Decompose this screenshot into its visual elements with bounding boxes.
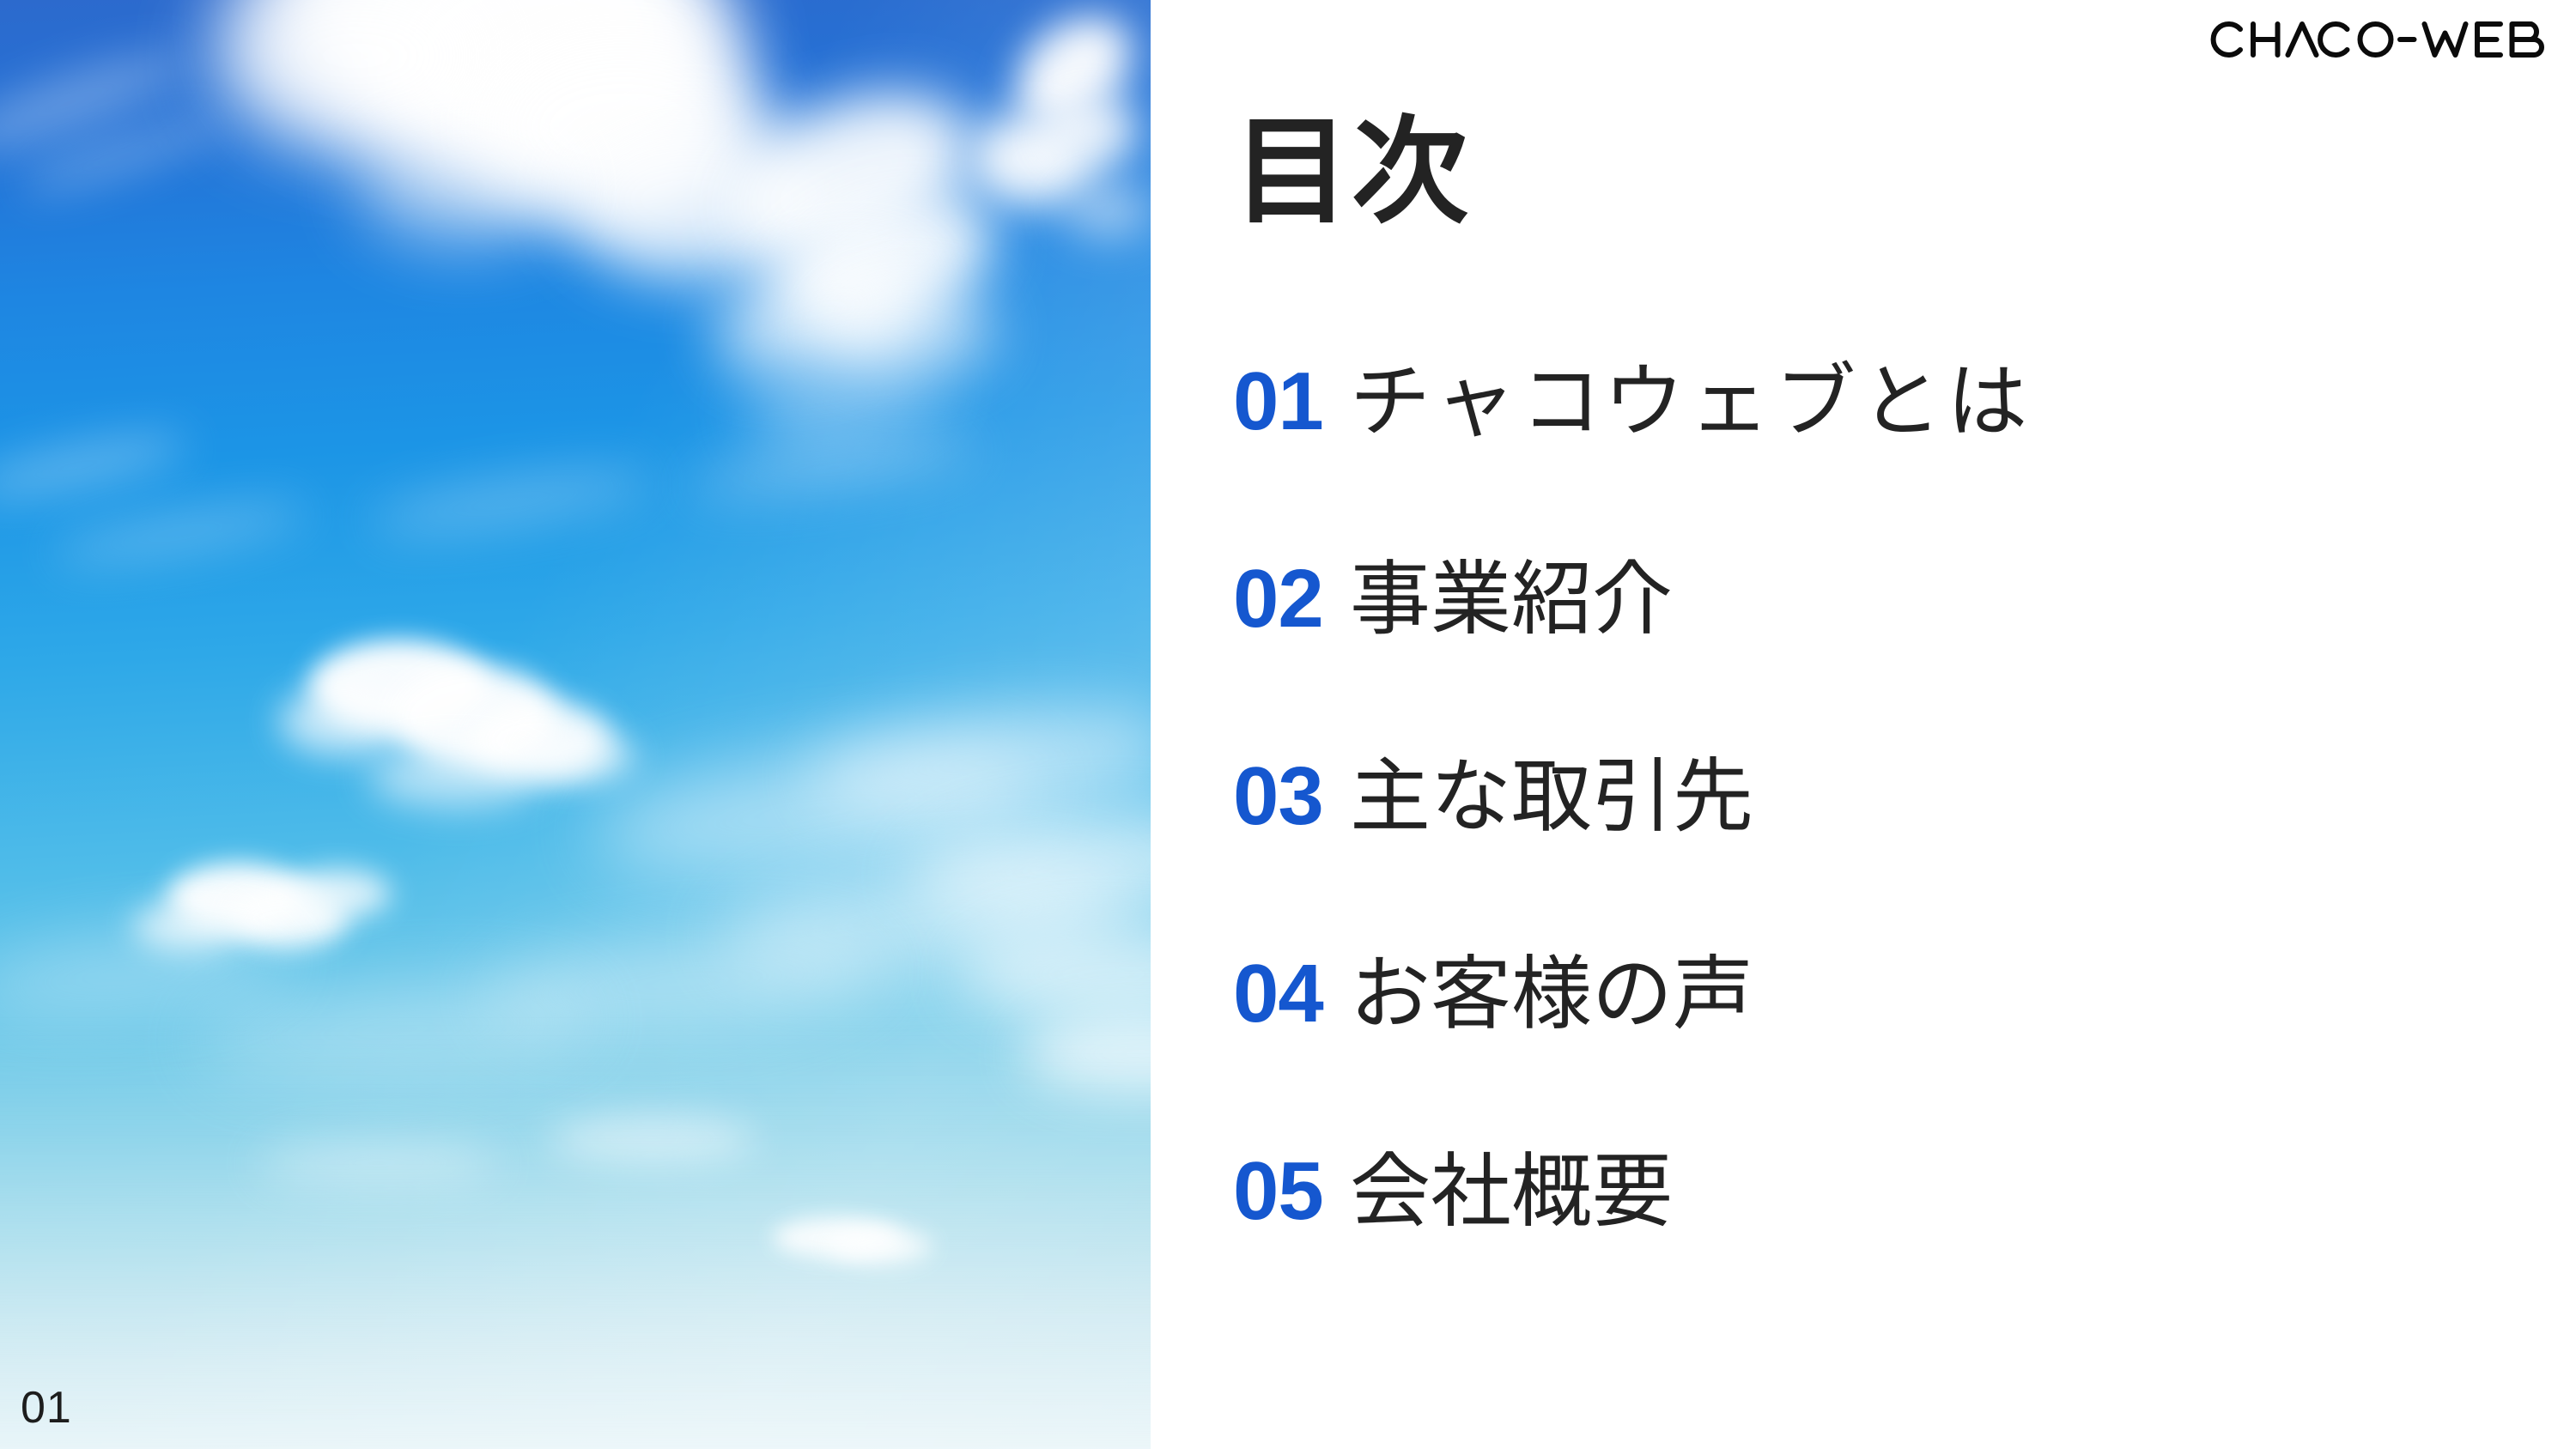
toc-item-03[interactable]: 03 主な取引先 <box>1233 755 2504 953</box>
slide-toc: 01 <box>0 0 2576 1449</box>
toc-label: 会社概要 <box>1350 1151 2504 1232</box>
sky-light-wash <box>0 0 1151 1449</box>
toc-item-01[interactable]: 01 チャコウェブとは <box>1233 361 2504 558</box>
page-number: 01 <box>21 1385 72 1430</box>
toc-number: 03 <box>1233 755 1350 838</box>
sky-photo: 01 <box>0 0 1151 1449</box>
toc-number: 02 <box>1233 558 1350 640</box>
toc-item-02[interactable]: 02 事業紹介 <box>1233 558 2504 755</box>
toc-number: 04 <box>1233 953 1350 1035</box>
toc-label: チャコウェブとは <box>1350 361 2504 442</box>
toc-item-04[interactable]: 04 お客様の声 <box>1233 953 2504 1150</box>
toc-label: 事業紹介 <box>1350 559 2504 640</box>
toc-item-05[interactable]: 05 会社概要 <box>1233 1150 2504 1348</box>
chaco-web-logo-icon <box>2209 19 2557 60</box>
page-title: 目次 <box>1233 113 1470 230</box>
toc-label: お客様の声 <box>1350 954 2504 1034</box>
toc-list: 01 チャコウェブとは 02 事業紹介 03 主な取引先 04 お客様の声 05… <box>1233 361 2504 1348</box>
content-panel: 目次 01 チャコウェブとは 02 事業紹介 03 主な取引先 04 お客様の声… <box>1151 0 2576 1449</box>
toc-number: 05 <box>1233 1150 1350 1233</box>
toc-label: 主な取引先 <box>1350 756 2504 837</box>
toc-number: 01 <box>1233 361 1350 443</box>
